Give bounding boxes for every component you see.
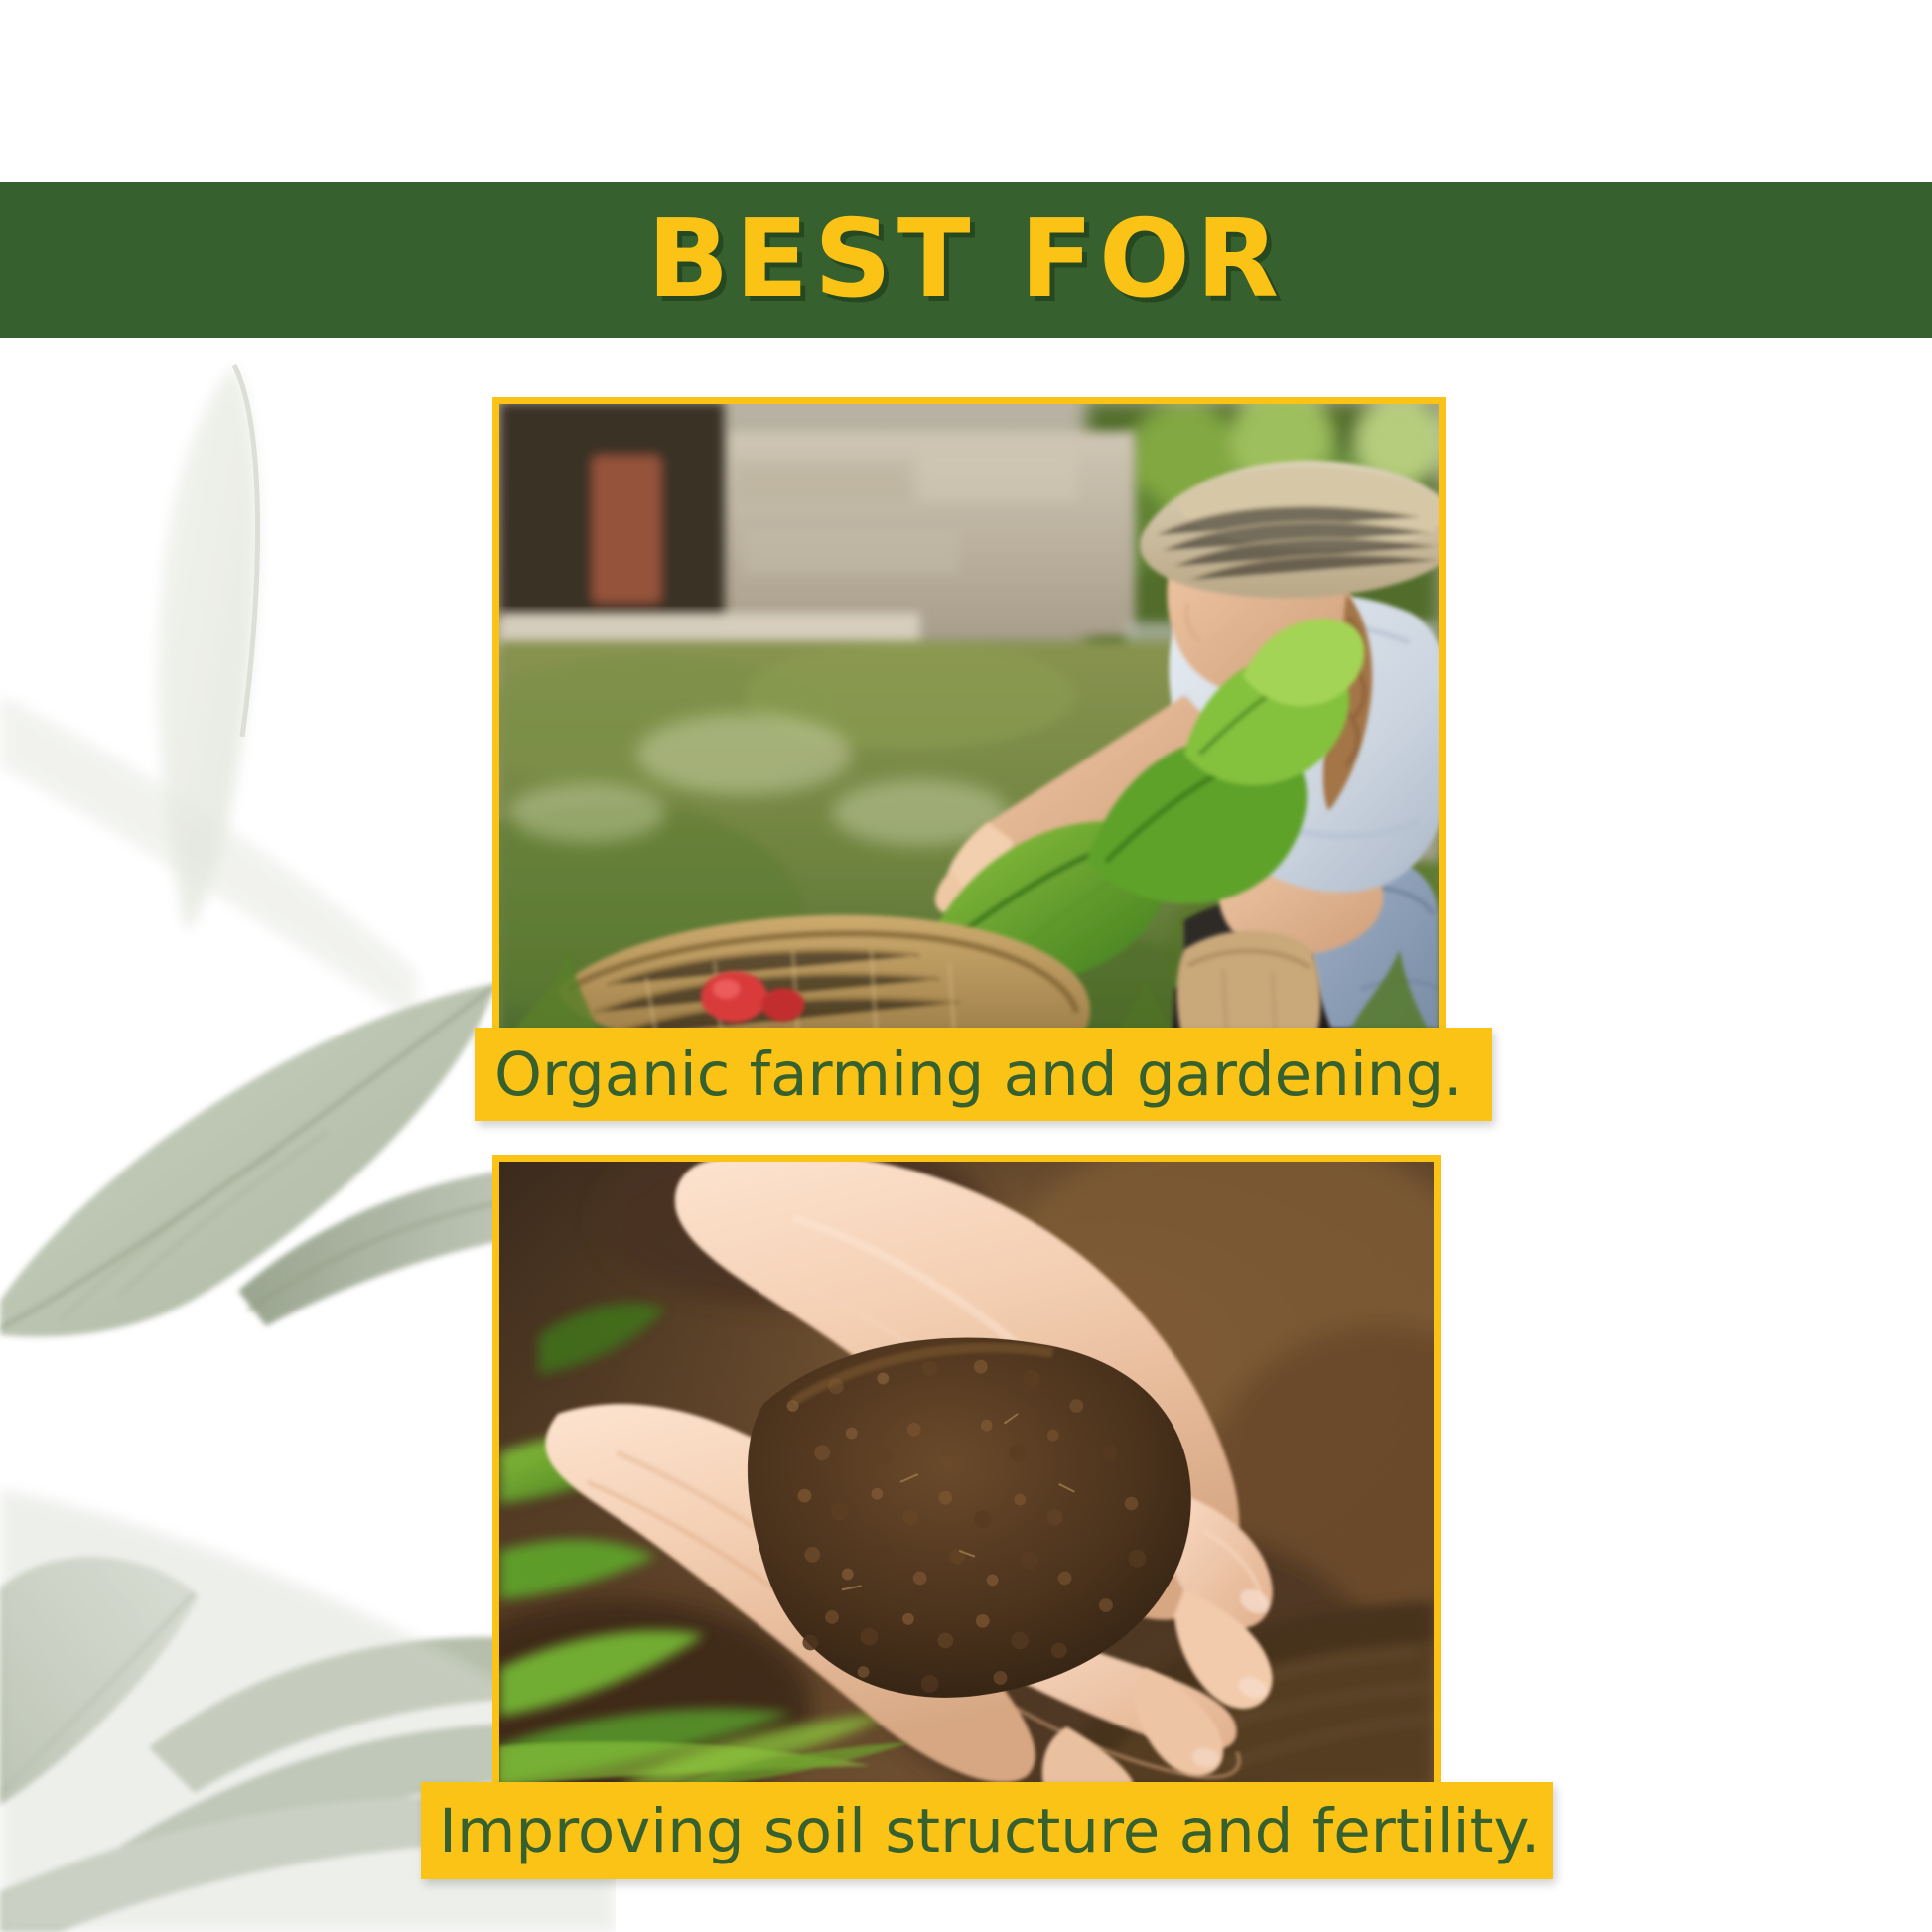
caption-bar-organic-farming: Organic farming and gardening. (475, 1028, 1492, 1121)
photo-soil-fertility-illustration (499, 1162, 1434, 1783)
photo-soil-fertility (492, 1155, 1441, 1790)
caption-text-organic-farming: Organic farming and gardening. (494, 1044, 1463, 1105)
photo-organic-farming-illustration (499, 404, 1439, 1045)
page-title: BEST FOR (647, 207, 1285, 314)
caption-text-soil-fertility: Improving soil structure and fertility. (439, 1801, 1540, 1862)
photo-organic-farming (492, 397, 1446, 1052)
caption-bar-soil-fertility: Improving soil structure and fertility. (421, 1782, 1553, 1879)
header-band: BEST FOR (0, 182, 1932, 338)
poster-canvas: BEST FOR (0, 0, 1932, 1932)
